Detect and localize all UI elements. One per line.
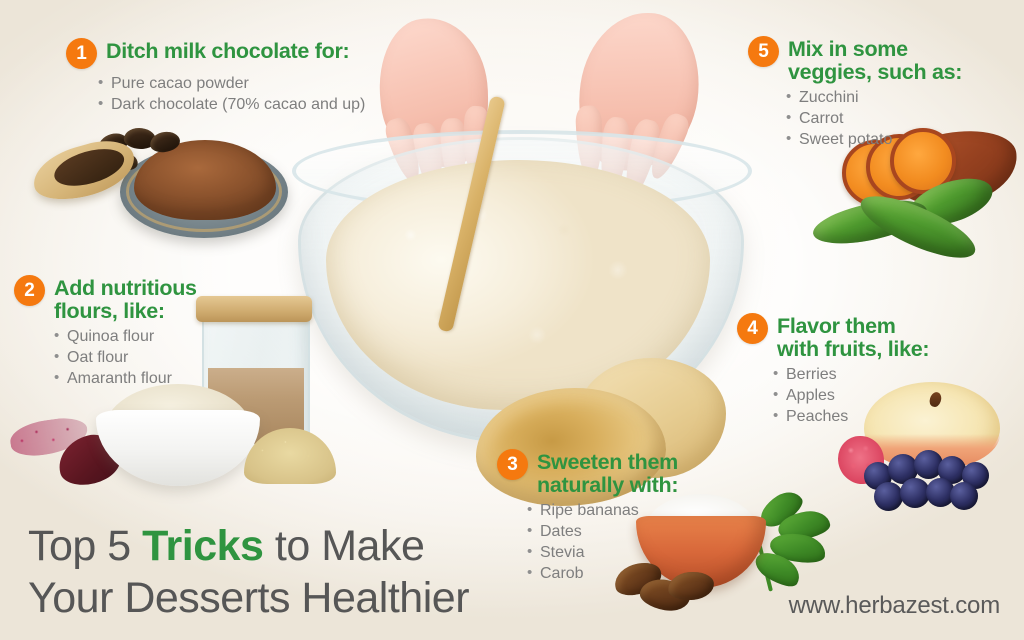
list-item: Sweet potato [786, 129, 962, 150]
list-item: Berries [773, 364, 929, 385]
title-highlight-word: Tricks [142, 522, 263, 570]
tip-5-header: 5 Mix in some veggies, such as: [748, 36, 962, 83]
tip-block-4: 4 Flavor them with fruits, like: Berries… [737, 313, 929, 427]
list-item: Apples [773, 385, 929, 406]
list-item: Peaches [773, 406, 929, 427]
list-item: Carrot [786, 108, 962, 129]
list-item: Zucchini [786, 87, 962, 108]
tip-3-heading-line2: naturally with: [537, 474, 678, 497]
list-item: Quinoa flour [54, 326, 197, 347]
tip-3-header: 3 Sweeten them naturally with: [497, 449, 678, 496]
site-url[interactable]: www.herbazest.com [789, 592, 1000, 620]
tip-block-5: 5 Mix in some veggies, such as: Zucchini… [748, 36, 962, 150]
tip-2-list: Quinoa flour Oat flour Amaranth flour [54, 326, 197, 389]
tip-5-heading-line2: veggies, such as: [788, 61, 962, 84]
tip-4-heading-line2: with fruits, like: [777, 338, 929, 361]
title-text-part-1: Top 5 [28, 522, 142, 570]
tip-5-number-badge: 5 [748, 36, 779, 67]
tip-2-number-badge: 2 [14, 275, 45, 306]
list-item: Carob [527, 563, 678, 584]
tip-4-heading-line1: Flavor them [777, 315, 929, 338]
tip-2-heading-line2: flours, like: [54, 300, 197, 323]
list-item: Amaranth flour [54, 368, 197, 389]
list-item: Dates [527, 521, 678, 542]
list-item: Oat flour [54, 347, 197, 368]
blueberry [950, 482, 978, 510]
cacao-powder [134, 140, 276, 220]
tip-4-number-badge: 4 [737, 313, 768, 344]
tip-5-heading: Mix in some veggies, such as: [788, 36, 962, 83]
tip-block-2: 2 Add nutritious flours, like: Quinoa fl… [14, 275, 197, 389]
center-photo-mixing-bowl [268, 52, 768, 472]
list-item: Stevia [527, 542, 678, 563]
infographic-canvas: 1 Ditch milk chocolate for: Pure cacao p… [0, 0, 1024, 640]
page-title-line1: Top 5 Tricks to Make [28, 520, 469, 572]
tip-3-heading-line1: Sweeten them [537, 451, 678, 474]
white-bowl [96, 410, 260, 486]
list-item: Ripe bananas [527, 500, 678, 521]
tip-1-number-badge: 1 [66, 38, 97, 69]
tip-2-heading: Add nutritious flours, like: [54, 275, 197, 322]
cacao-illustration [24, 118, 294, 243]
title-text-part-2: to Make [263, 522, 424, 570]
tip-1-list: Pure cacao powder Dark chocolate (70% ca… [98, 73, 365, 115]
tip-2-heading-line1: Add nutritious [54, 277, 197, 300]
tip-4-header: 4 Flavor them with fruits, like: [737, 313, 929, 360]
tip-1-header: 1 Ditch milk chocolate for: [66, 38, 365, 69]
jar-wooden-lid [196, 296, 312, 322]
tip-3-heading: Sweeten them naturally with: [537, 449, 678, 496]
page-title: Top 5 Tricks to Make Your Desserts Healt… [28, 520, 469, 624]
tip-1-heading: Ditch milk chocolate for: [106, 38, 349, 63]
tip-4-heading: Flavor them with fruits, like: [777, 313, 929, 360]
tip-block-3: 3 Sweeten them naturally with: Ripe bana… [497, 449, 678, 584]
scoop-contents [50, 142, 128, 193]
tip-2-header: 2 Add nutritious flours, like: [14, 275, 197, 322]
list-item: Dark chocolate (70% cacao and up) [98, 94, 365, 115]
page-title-line2: Your Desserts Healthier [28, 572, 469, 624]
list-item: Pure cacao powder [98, 73, 365, 94]
tip-3-list: Ripe bananas Dates Stevia Carob [527, 500, 678, 584]
tip-3-number-badge: 3 [497, 449, 528, 480]
tip-5-list: Zucchini Carrot Sweet potato [786, 87, 962, 150]
blueberry [874, 482, 903, 511]
tip-block-1: 1 Ditch milk chocolate for: Pure cacao p… [66, 38, 365, 115]
tip-5-heading-line1: Mix in some [788, 38, 962, 61]
tip-4-list: Berries Apples Peaches [773, 364, 929, 427]
